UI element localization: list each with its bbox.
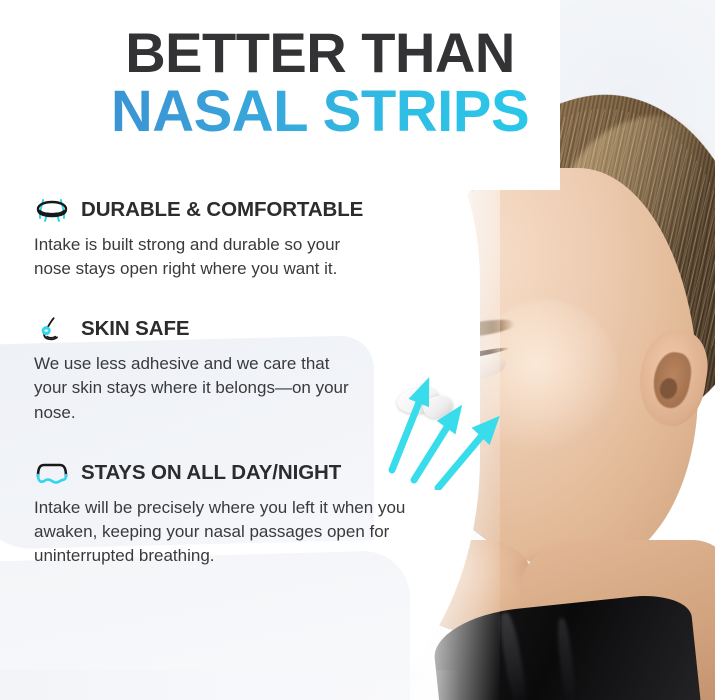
feature-header: STAYS ON ALL DAY/NIGHT [34, 459, 484, 487]
nasal-dilator-device-icon [34, 459, 70, 487]
feature-body: Intake is built strong and durable so yo… [34, 233, 364, 281]
feature-body: We use less adhesive and we care that yo… [34, 352, 364, 424]
page-title: BETTER THAN NASAL STRIPS [0, 24, 640, 143]
feature-stays-on: STAYS ON ALL DAY/NIGHT Intake will be pr… [34, 459, 484, 568]
feature-body: Intake will be precisely where you left … [34, 496, 459, 568]
feature-skin-safe: SKIN SAFE We use less adhesive and we ca… [34, 315, 484, 424]
headline-line-1: BETTER THAN [0, 24, 640, 82]
feature-title: DURABLE & COMFORTABLE [81, 198, 363, 222]
feature-durable-comfortable: DURABLE & COMFORTABLE Intake is built st… [34, 196, 484, 281]
promo-poster: BETTER THAN NASAL STRIPS DURABLE & COMFO… [0, 0, 715, 700]
nose-profile-adhesive-icon [34, 315, 70, 343]
bottom-edge-fade [0, 670, 460, 700]
feature-list: DURABLE & COMFORTABLE Intake is built st… [34, 196, 484, 602]
feature-title: SKIN SAFE [81, 317, 189, 341]
feature-header: DURABLE & COMFORTABLE [34, 196, 484, 224]
headline-line-2: NASAL STRIPS [0, 82, 640, 142]
feature-title: STAYS ON ALL DAY/NIGHT [81, 461, 341, 485]
nose-airflow-front-icon [34, 196, 70, 224]
feature-header: SKIN SAFE [34, 315, 484, 343]
